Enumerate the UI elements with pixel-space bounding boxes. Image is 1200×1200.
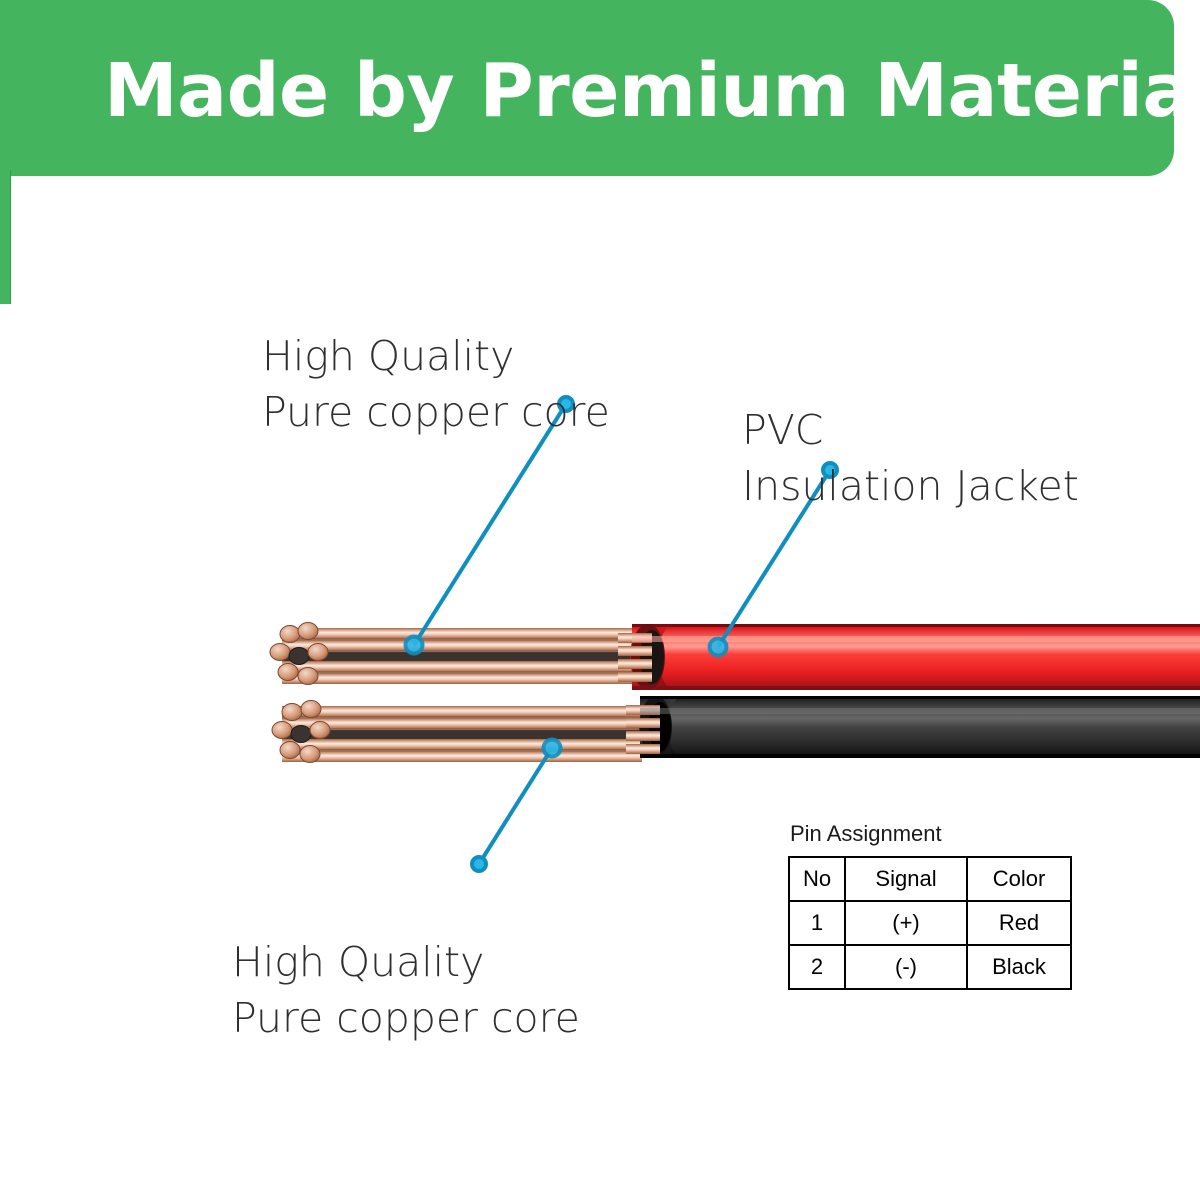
callout-copper-top-line1: High Quality (262, 332, 514, 380)
cell-color-1: Red (967, 901, 1071, 945)
callout-copper-top-line2: Pure copper core (262, 384, 610, 440)
cell-color-2: Black (967, 945, 1071, 989)
callout-pvc: PVC Insulation Jacket (742, 346, 1079, 570)
callout-copper-top: High Quality Pure copper core (262, 272, 610, 496)
black-insulation-jacket (640, 696, 1200, 758)
th-color: Color (967, 857, 1071, 901)
callout-copper-bottom-line2: Pure copper core (232, 990, 580, 1046)
pin-assignment-table: No Signal Color 1 (+) Red 2 (-) Black (788, 856, 1072, 990)
cell-no-2: 2 (789, 945, 845, 989)
table-row: 1 (+) Red (789, 901, 1071, 945)
red-insulation-jacket (632, 624, 1200, 690)
red-wire-copper-strands (282, 628, 634, 684)
pin-assignment-title: Pin Assignment (790, 822, 1072, 846)
callout-copper-bottom: High Quality Pure copper core (232, 878, 580, 1102)
cell-no-1: 1 (789, 901, 845, 945)
red-wire (270, 623, 1200, 691)
cable-illustration (0, 0, 1200, 1200)
callout-pvc-line1: PVC (742, 406, 823, 454)
pin-assignment-block: Pin Assignment No Signal Color 1 (+) Red… (788, 822, 1072, 990)
black-wire-copper-strands (282, 706, 644, 762)
callout-pvc-line2: Insulation Jacket (742, 458, 1079, 514)
callout-copper-bottom-line1: High Quality (232, 938, 484, 986)
th-no: No (789, 857, 845, 901)
infographic-canvas: Made by Premium Materials (0, 0, 1200, 1200)
cell-signal-2: (-) (845, 945, 967, 989)
cell-signal-1: (+) (845, 901, 967, 945)
table-row: 2 (-) Black (789, 945, 1071, 989)
th-signal: Signal (845, 857, 967, 901)
black-wire (272, 696, 1200, 763)
table-header-row: No Signal Color (789, 857, 1071, 901)
